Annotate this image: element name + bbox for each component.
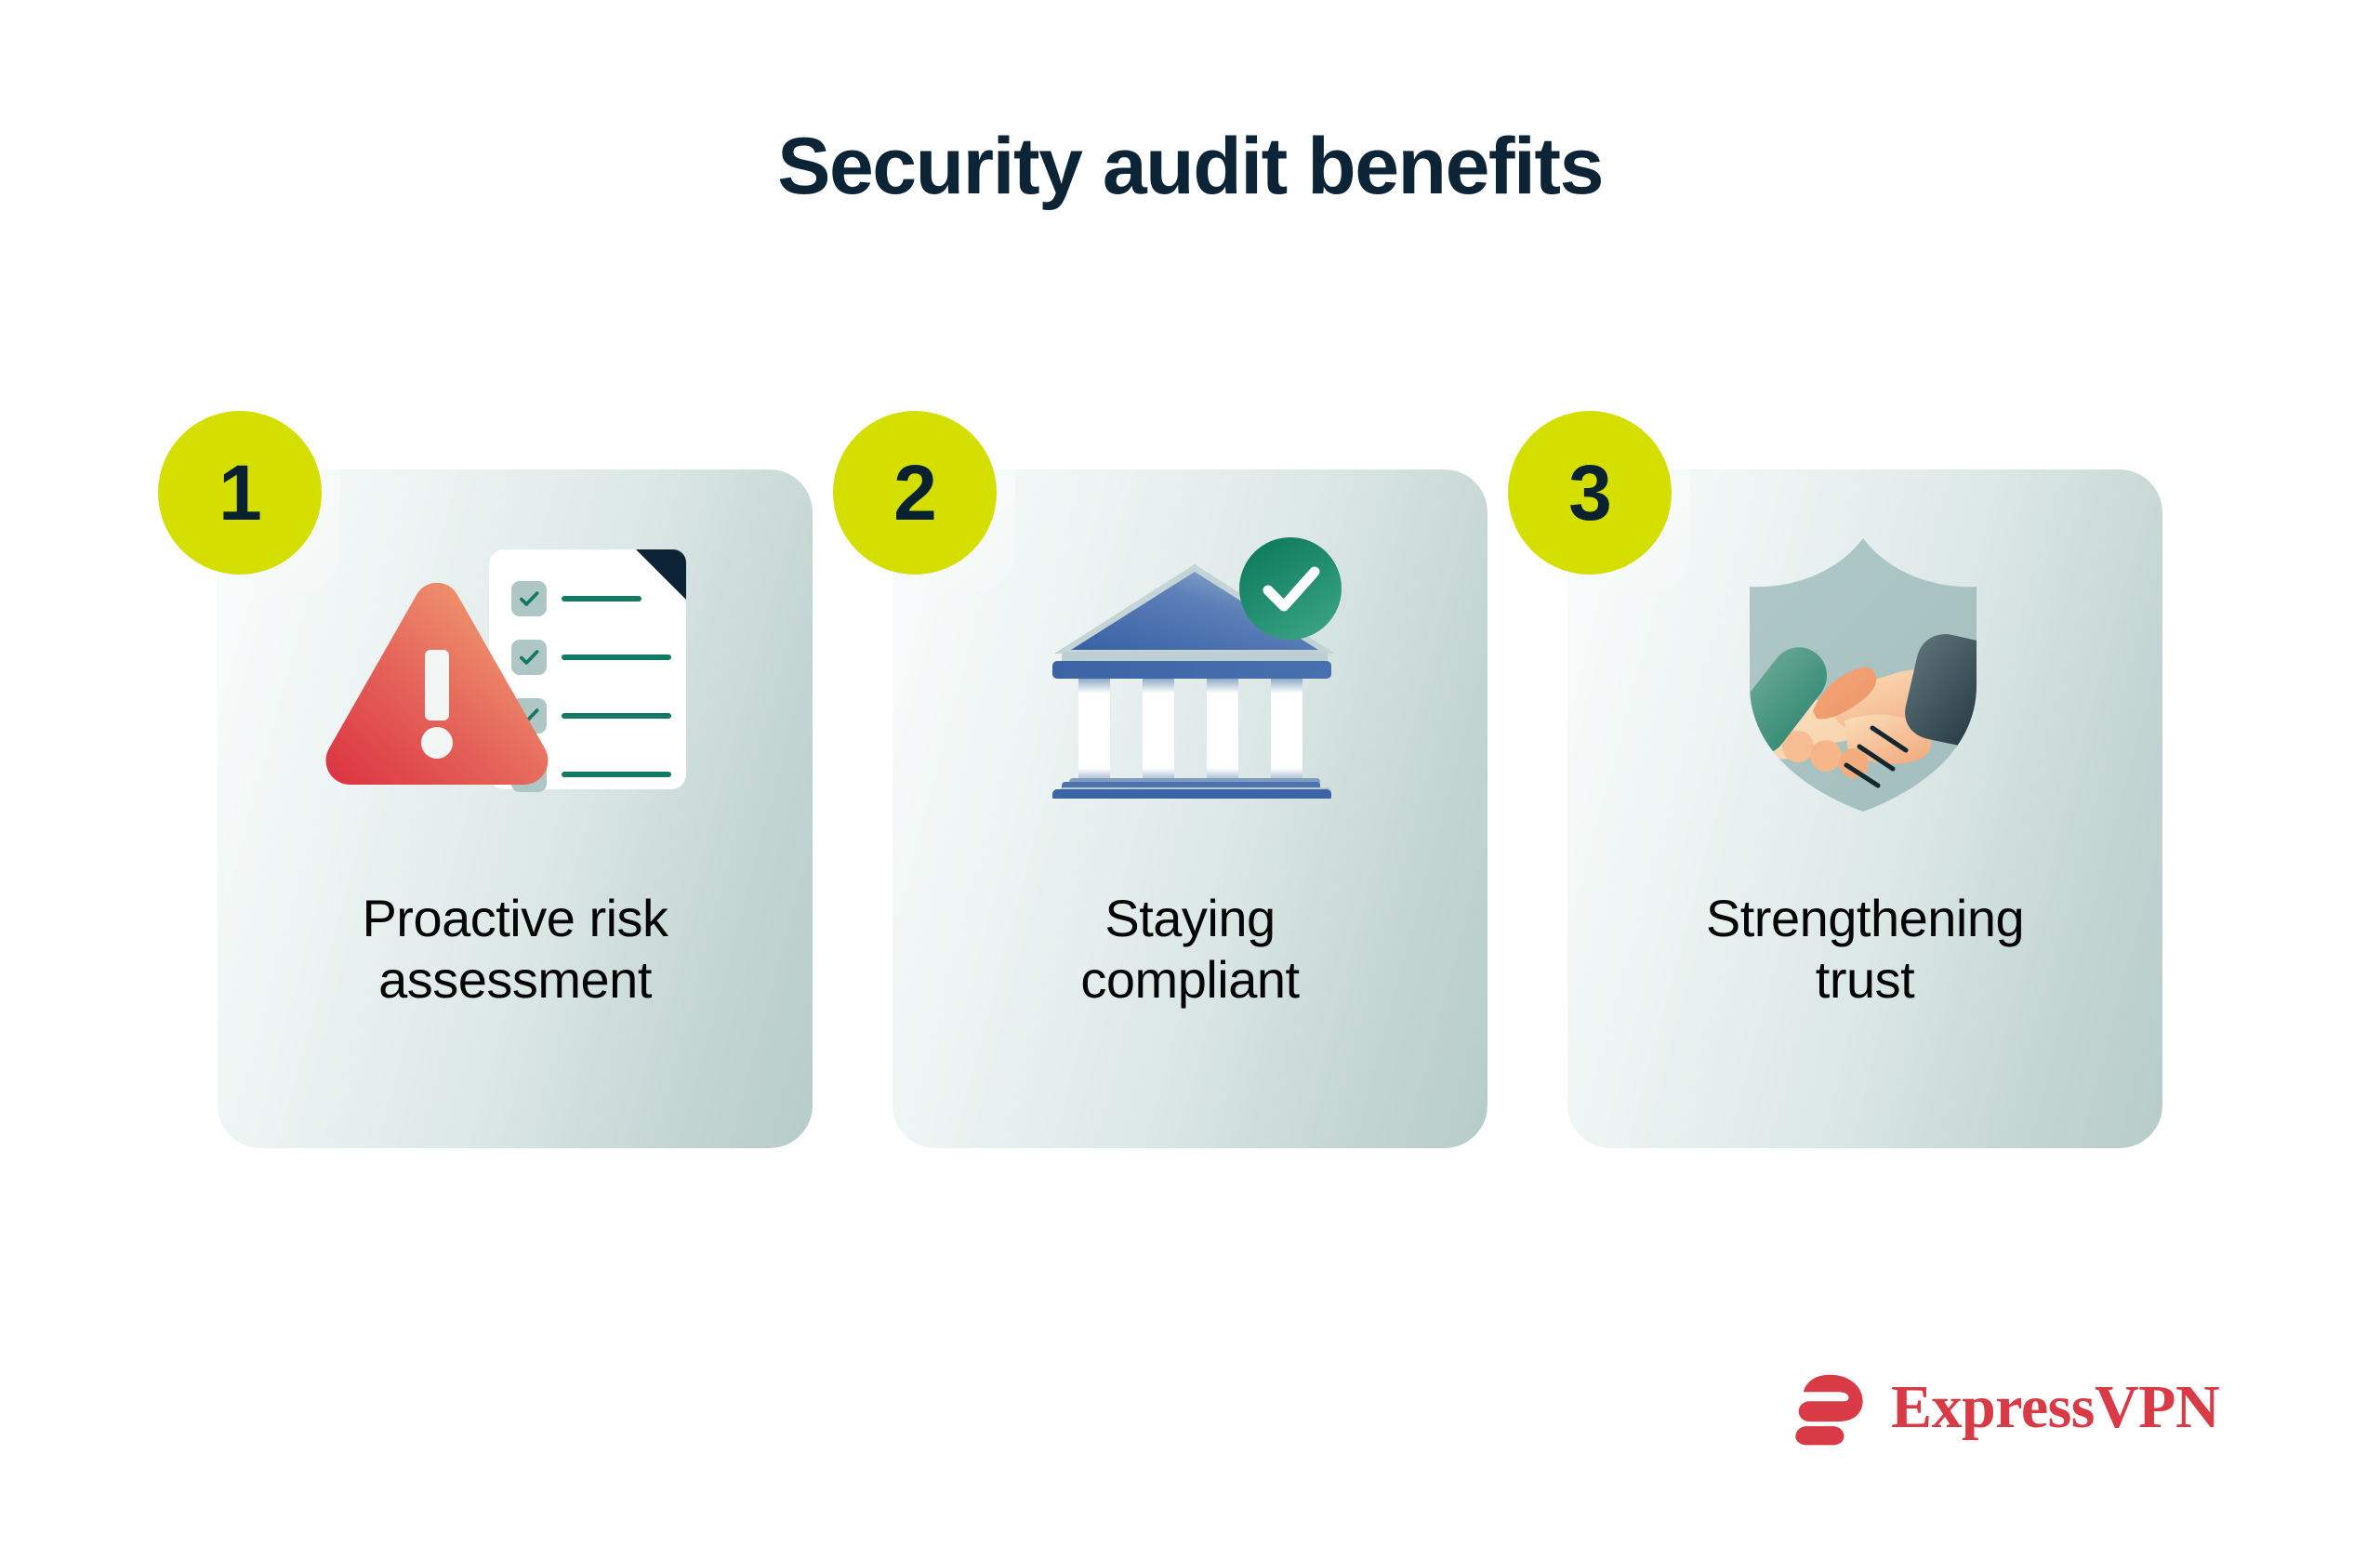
card-number-badge-3: 3 <box>1508 411 1672 575</box>
card-number-badge-2: 2 <box>833 411 997 575</box>
card-label-line2: compliant <box>1080 950 1299 1009</box>
card-label-line2: assessment <box>378 950 652 1009</box>
card-label-line1: Strengthening <box>1706 889 2024 947</box>
card-number-label: 2 <box>893 454 936 532</box>
card-number-label: 1 <box>218 454 261 532</box>
checklist-line <box>562 713 671 719</box>
card-label-3: Strengthening trust <box>1605 888 2125 1011</box>
card-number-label: 3 <box>1568 454 1611 532</box>
checklist-line <box>562 654 671 660</box>
checklist-line <box>562 772 671 777</box>
warning-triangle-icon <box>320 583 554 786</box>
infographic-canvas: Security audit benefits 1 <box>0 0 2380 1560</box>
shield-handshake-icon <box>1724 529 2003 819</box>
expressvpn-wordmark: ExpressVPN <box>1891 1377 2219 1438</box>
page-title: Security audit benefits <box>0 126 2380 206</box>
card-label-1: Proactive risk assessment <box>255 888 775 1011</box>
expressvpn-logo: ExpressVPN <box>1792 1368 2219 1447</box>
benefit-card-1: 1 <box>218 469 813 1148</box>
card-label-2: Staying compliant <box>930 888 1450 1011</box>
checklist-line <box>562 596 641 602</box>
benefit-card-2: 2 <box>892 469 1487 1148</box>
green-check-badge-icon <box>1238 536 1342 641</box>
benefits-card-row: 1 <box>0 469 2380 1148</box>
expressvpn-e-mark-icon <box>1792 1368 1871 1447</box>
card-label-line1: Proactive risk <box>362 889 668 947</box>
card-label-line2: trust <box>1816 950 1914 1009</box>
benefit-card-3: 3 <box>1567 469 2162 1148</box>
card-label-line1: Staying <box>1104 889 1275 947</box>
card-number-badge-1: 1 <box>158 411 322 575</box>
